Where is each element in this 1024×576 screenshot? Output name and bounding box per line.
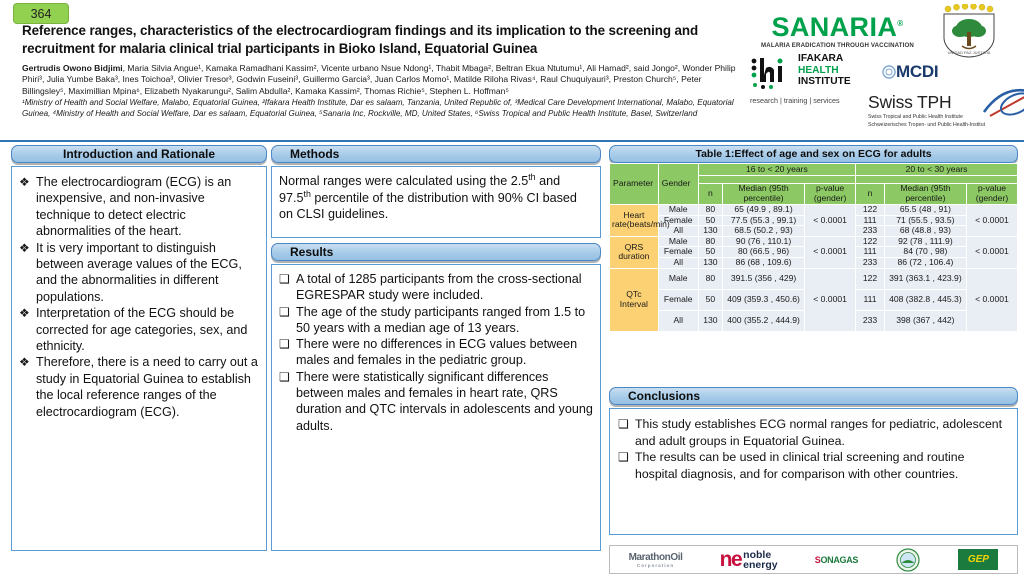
diamond-bullet-icon: ❖ (19, 354, 30, 370)
section-body-methods: Normal ranges were calculated using the … (271, 166, 601, 238)
n-g2: 122 (856, 236, 885, 247)
noble-energy-logo: ne noble energy (720, 547, 778, 573)
square-bullet-icon: ❑ (279, 369, 290, 385)
section-body-results: ❑A total of 1285 participants from the c… (271, 264, 601, 551)
n-g2: 111 (856, 247, 885, 258)
median-g1: 86 (68 , 109.6) (723, 257, 805, 268)
list-item-text: There were no differences in ECG values … (296, 337, 577, 367)
conclusions-bullet-list: ❑This study establishes ECG normal range… (616, 416, 1010, 482)
col-header-parameter: Parameter (610, 164, 659, 205)
col-header-n-g2: n (856, 184, 885, 205)
col-header-pvalue-g2: p-value (gender) (966, 184, 1017, 205)
ecg-results-table-wrap: Parameter Gender 16 to < 20 years 20 to … (609, 163, 1018, 332)
marathon-oil-sub: Corporation (629, 563, 683, 568)
sanaria-wordmark: SANARIA® (750, 10, 925, 41)
median-g2: 68 (48.8 , 93) (884, 226, 966, 237)
square-bullet-icon: ❑ (279, 336, 290, 352)
n-g1: 80 (698, 268, 722, 289)
gender-female: Female (658, 289, 698, 310)
list-item: ❖Interpretation of the ECG should be cor… (17, 305, 260, 354)
noble-energy-line-1: noble (743, 550, 777, 560)
median-g1: 65 (49.9 , 89.1) (723, 205, 805, 216)
mcdi-wordmark: MCDI (896, 62, 938, 81)
group-header-20-to-30: 20 to < 30 years (856, 164, 1018, 176)
registered-mark-icon: ® (897, 19, 903, 28)
gender-all: All (658, 257, 698, 268)
gender-female: Female (658, 247, 698, 258)
col-header-median-g2: Median (95th percentile) (884, 184, 966, 205)
ministry-seal-logo (895, 547, 921, 573)
poster-header: 364 Reference ranges, characteristics of… (0, 0, 1024, 142)
list-item: ❖Therefore, there is a need to carry out… (17, 354, 260, 420)
swiss-tph-swoosh-icon (980, 84, 1024, 122)
n-g2: 111 (856, 215, 885, 226)
sanaria-name: SANARIA (771, 12, 897, 42)
list-item-text: The age of the study participants ranged… (296, 305, 585, 335)
poster-canvas: 364 Reference ranges, characteristics of… (0, 0, 1024, 576)
section-body-conclusions: ❑This study establishes ECG normal range… (609, 408, 1018, 535)
median-g1: 80 (66.5 , 96) (723, 247, 805, 258)
n-g2: 122 (856, 205, 885, 216)
n-g1: 50 (698, 215, 722, 226)
n-g1: 130 (698, 310, 722, 331)
median-g2: 86 (72 , 106.4) (884, 257, 966, 268)
n-g2: 233 (856, 226, 885, 237)
author-list-rest: , Maria Silvia Angue¹, Kamaka Ramadhani … (22, 63, 736, 96)
median-g2: 398 (367 , 442) (884, 310, 966, 331)
square-bullet-icon: ❑ (279, 304, 290, 320)
header-divider (0, 140, 1024, 142)
gender-male: Male (658, 205, 698, 216)
median-g2: 84 (70 , 98) (884, 247, 966, 258)
marathon-oil-wordmark: MarathonOil (629, 552, 683, 563)
median-g2: 92 (78 , 111.9) (884, 236, 966, 247)
n-g1: 50 (698, 289, 722, 310)
page-title: Reference ranges, characteristics of the… (22, 22, 737, 58)
svg-text:UNIDAD PAZ JUSTICIA: UNIDAD PAZ JUSTICIA (948, 50, 991, 55)
list-item-text: It is very important to distinguish betw… (36, 241, 242, 304)
diamond-bullet-icon: ❖ (19, 174, 30, 190)
n-g2: 122 (856, 268, 885, 289)
methods-sup-1: th (528, 172, 535, 182)
list-item-text: A total of 1285 participants from the cr… (296, 272, 582, 302)
group-header-spacer-1 (698, 176, 855, 184)
median-g1: 400 (355.2 , 444.9) (723, 310, 805, 331)
ihi-line-3: INSTITUTE (798, 76, 851, 88)
ihi-line-1: IFAKARA (798, 53, 851, 65)
pvalue-g2: < 0.0001 (966, 268, 1017, 331)
methods-paragraph: Normal ranges were calculated using the … (279, 173, 593, 223)
author-list: Gertrudis Owono Bidjimi, Maria Silvia An… (22, 63, 737, 97)
list-item-text: Therefore, there is a need to carry out … (36, 355, 258, 418)
median-g2: 65.5 (48 , 91) (884, 205, 966, 216)
title-block: Reference ranges, characteristics of the… (22, 22, 737, 120)
section-header-conclusions: Conclusions (609, 387, 1018, 405)
list-item: ❑A total of 1285 participants from the c… (277, 271, 594, 304)
col-header-pvalue-g1: p-value (gender) (805, 184, 856, 205)
lead-author: Gertrudis Owono Bidjimi (22, 63, 123, 73)
gender-all: All (658, 310, 698, 331)
marathon-oil-logo: MarathonOil Corporation (629, 547, 683, 573)
ihi-wordmark: IFAKARA HEALTH INSTITUTE (798, 53, 851, 88)
diamond-bullet-icon: ❖ (19, 240, 30, 256)
sonagas-wordmark: ONAGAS (820, 555, 858, 565)
median-g1: 68.5 (50.2 , 93) (723, 226, 805, 237)
ecg-results-table: Parameter Gender 16 to < 20 years 20 to … (609, 163, 1018, 332)
ihi-line-2: HEALTH (798, 65, 851, 77)
methods-text-3: percentile of the distribution with 90% … (279, 191, 577, 222)
methods-sup-2: th (304, 188, 311, 198)
list-item-text: This study establishes ECG normal ranges… (635, 417, 1002, 448)
col-header-gender: Gender (658, 164, 698, 205)
list-item: ❑There were no differences in ECG values… (277, 336, 594, 369)
table-caption: Table 1:Effect of age and sex on ECG for… (609, 145, 1018, 163)
n-g1: 130 (698, 257, 722, 268)
pvalue-g1: < 0.0001 (805, 268, 856, 331)
pvalue-g2: < 0.0001 (966, 205, 1017, 237)
square-bullet-icon: ❑ (279, 271, 290, 287)
n-g2: 233 (856, 310, 885, 331)
affiliation-list: ¹Ministry of Health and Social Welfare, … (22, 98, 737, 120)
median-g1: 391.5 (356 , 429) (723, 268, 805, 289)
diamond-bullet-icon: ❖ (19, 305, 30, 321)
section-header-methods: Methods (271, 145, 601, 163)
n-g1: 80 (698, 236, 722, 247)
mcdi-logo: MCDI (882, 62, 938, 82)
col-header-n-g1: n (698, 184, 722, 205)
gepetrol-wordmark: GEP (958, 549, 998, 570)
list-item: ❑The results can be used in clinical tri… (616, 449, 1010, 482)
sanaria-tagline: MALARIA ERADICATION THROUGH VACCINATION (750, 42, 925, 49)
pvalue-g1: < 0.0001 (805, 236, 856, 268)
col-header-median-g1: Median (95th percentile) (723, 184, 805, 205)
list-item: ❖The electrocardiogram (ECG) is an inexp… (17, 174, 260, 240)
results-bullet-list: ❑A total of 1285 participants from the c… (277, 271, 594, 434)
group-header-16-to-20: 16 to < 20 years (698, 164, 855, 176)
list-item-text: Interpretation of the ECG should be corr… (36, 306, 247, 353)
median-g2: 408 (382.8 , 445.3) (884, 289, 966, 310)
n-g2: 233 (856, 257, 885, 268)
median-g1: 90 (76 , 110.1) (723, 236, 805, 247)
param-qtc-interval: QTc Interval (610, 268, 659, 331)
table-row: QRS duration Male 80 90 (76 , 110.1) < 0… (610, 236, 1018, 247)
median-g1: 409 (359.3 , 450.6) (723, 289, 805, 310)
pvalue-g1: < 0.0001 (805, 205, 856, 237)
square-bullet-icon: ❑ (618, 449, 629, 466)
pvalue-g2: < 0.0001 (966, 236, 1017, 268)
param-qrs-duration: QRS duration (610, 236, 659, 268)
median-g1: 77.5 (55.3 , 99.1) (723, 215, 805, 226)
equatorial-guinea-crest-icon: UNIDAD PAZ JUSTICIA (938, 4, 1000, 59)
ihi-mark-icon (750, 54, 794, 90)
sanaria-logo: SANARIA® MALARIA ERADICATION THROUGH VAC… (750, 10, 925, 49)
methods-text-1: Normal ranges were calculated using the … (279, 174, 528, 188)
n-g1: 50 (698, 247, 722, 258)
list-item: ❑This study establishes ECG normal range… (616, 416, 1010, 449)
list-item-text: There were statistically significant dif… (296, 370, 593, 433)
gender-male: Male (658, 268, 698, 289)
introduction-bullet-list: ❖The electrocardiogram (ECG) is an inexp… (17, 174, 260, 420)
ihi-tagline: research | training | services (750, 96, 840, 105)
swiss-tph-sub-2: Schweizerisches Tropen- und Public Healt… (868, 122, 1018, 129)
list-item: ❑There were statistically significant di… (277, 369, 594, 434)
median-g2: 71 (55.5 , 93.5) (884, 215, 966, 226)
logo-group: SANARIA® MALARIA ERADICATION THROUGH VAC… (740, 2, 1020, 140)
ministry-seal-icon (895, 548, 921, 572)
square-bullet-icon: ❑ (618, 416, 629, 433)
list-item: ❖It is very important to distinguish bet… (17, 240, 260, 306)
n-g2: 111 (856, 289, 885, 310)
poster-number-badge: 364 (13, 3, 69, 24)
swiss-tph-logo: Swiss TPH Swiss Tropical and Public Heal… (868, 92, 1018, 128)
list-item: ❑The age of the study participants range… (277, 304, 594, 337)
list-item-text: The results can be used in clinical tria… (635, 450, 964, 481)
noble-energy-mark: ne (720, 550, 742, 569)
noble-energy-line-2: energy (743, 560, 777, 570)
n-g1: 80 (698, 205, 722, 216)
gender-male: Male (658, 236, 698, 247)
sponsor-logo-strip: MarathonOil Corporation ne noble energy … (609, 545, 1018, 574)
mcdi-globe-icon (882, 65, 896, 79)
param-heart-rate: Heart rate(beats/min) (610, 205, 659, 237)
n-g1: 130 (698, 226, 722, 237)
section-header-introduction: Introduction and Rationale (11, 145, 267, 163)
section-header-results: Results (271, 243, 601, 261)
table-row: QTc Interval Male 80 391.5 (356 , 429) <… (610, 268, 1018, 289)
gender-female: Female (658, 215, 698, 226)
list-item-text: The electrocardiogram (ECG) is an inexpe… (36, 175, 231, 238)
section-body-introduction: ❖The electrocardiogram (ECG) is an inexp… (11, 166, 267, 551)
median-g2: 391 (363.1 , 423.9) (884, 268, 966, 289)
group-header-spacer-2 (856, 176, 1018, 184)
table-group-header-row: Parameter Gender 16 to < 20 years 20 to … (610, 164, 1018, 176)
gepetrol-logo: GEP (958, 547, 998, 573)
sonagas-logo: SONAGAS (815, 547, 858, 573)
table-row: Heart rate(beats/min) Male 80 65 (49.9 ,… (610, 205, 1018, 216)
